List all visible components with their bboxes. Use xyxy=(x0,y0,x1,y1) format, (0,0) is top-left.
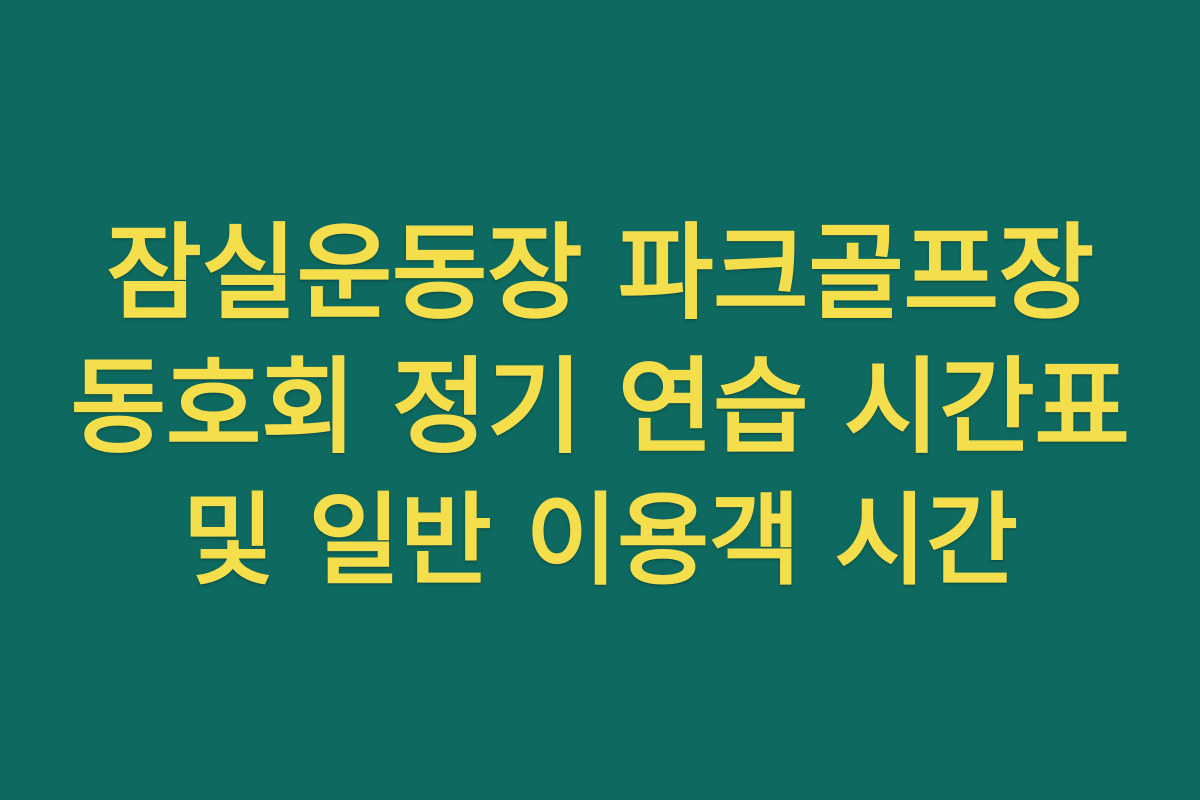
banner-card: 잠실운동장 파크골프장 동호회 정기 연습 시간표 및 일반 이용객 시간 xyxy=(0,0,1200,800)
headline-line-1: 잠실운동장 파크골프장 xyxy=(40,206,1160,340)
headline-line-3: 및 일반 이용객 시간 xyxy=(40,474,1160,608)
headline-line-2: 동호회 정기 연습 시간표 xyxy=(40,340,1160,474)
headline-block: 잠실운동장 파크골프장 동호회 정기 연습 시간표 및 일반 이용객 시간 xyxy=(0,206,1200,608)
